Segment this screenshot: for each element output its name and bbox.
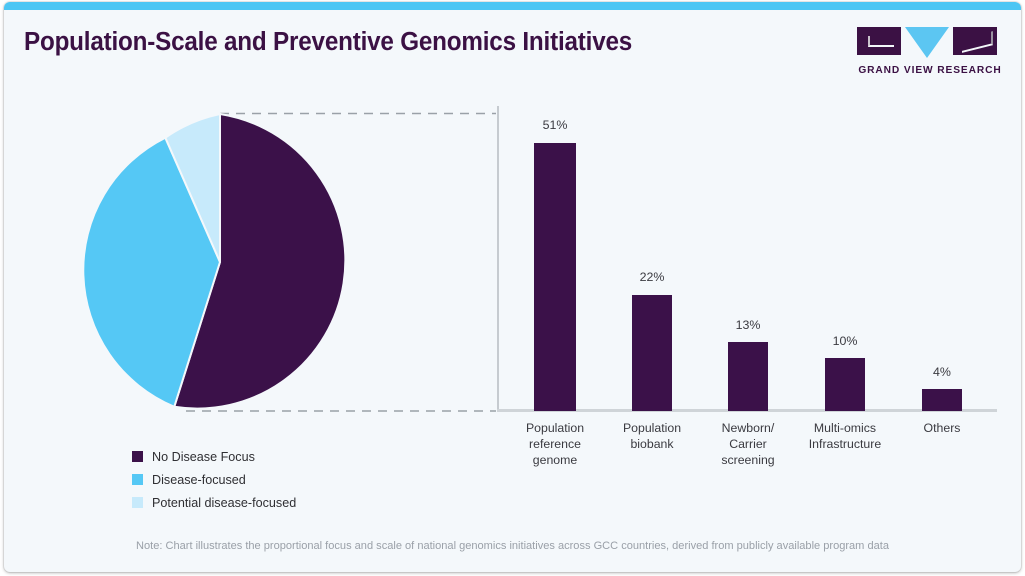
bar-category-label: Population biobank [607,420,697,452]
bar[interactable] [825,358,865,411]
bar-category-line: Others [897,420,987,436]
bar[interactable] [728,342,768,411]
bar-category-line: biobank [607,436,697,452]
bar-category-line: Population [510,420,600,436]
legend-swatch-icon [132,474,143,485]
pie-chart-svg [56,98,516,428]
bar-value-label: 10% [815,334,875,348]
logo-text: GRAND VIEW RESEARCH [857,65,1003,76]
page-title: Population-Scale and Preventive Genomics… [24,28,632,57]
bar-category-label: Others [897,420,987,436]
logo-triangle-icon [905,27,949,58]
legend-item-label: No Disease Focus [152,450,255,464]
logo-block-left-icon [857,27,901,55]
legend-item-label: Disease-focused [152,473,246,487]
bar-category-line: Carrier [703,436,793,452]
bar-category-line: Infrastructure [796,436,894,452]
logo-marks [857,27,1003,58]
legend-item-label: Potential disease-focused [152,496,296,510]
bar[interactable] [632,295,672,411]
legend-swatch-icon [132,497,143,508]
pie-legend: No Disease Focus Disease-focused Potenti… [132,445,296,514]
legend-swatch-icon [132,451,143,462]
bar-value-label: 51% [525,118,585,132]
pie-slices [83,114,345,409]
chart-footnote: Note: Chart illustrates the proportional… [19,540,1005,552]
bar-chart-y-axis [497,106,499,411]
bar-category-line: reference [510,436,600,452]
bar-category-line: genome [510,452,600,468]
bar-value-label: 22% [622,270,682,284]
bar-category-line: Multi-omics [796,420,894,436]
bar[interactable] [922,389,962,411]
bar-category-line: Population [607,420,697,436]
bar-value-label: 13% [718,318,778,332]
bar-category-label: Population reference genome [510,420,600,468]
bar-category-label: Multi-omics Infrastructure [796,420,894,452]
bar-category-line: Newborn/ [703,420,793,436]
bar-category-line: screening [703,452,793,468]
bar-chart: 51% Population reference genome 22% Popu… [493,98,1013,488]
legend-item[interactable]: Potential disease-focused [132,491,296,514]
pie-chart [56,98,516,428]
accent-top-bar [4,2,1021,10]
legend-item[interactable]: Disease-focused [132,468,296,491]
chart-card: Population-Scale and Preventive Genomics… [4,2,1021,572]
legend-item[interactable]: No Disease Focus [132,445,296,468]
bar-value-label: 4% [912,365,972,379]
bar[interactable] [534,143,576,411]
bar-category-label: Newborn/ Carrier screening [703,420,793,468]
grand-view-research-logo: GRAND VIEW RESEARCH [857,27,1003,79]
logo-block-right-icon [953,27,997,55]
